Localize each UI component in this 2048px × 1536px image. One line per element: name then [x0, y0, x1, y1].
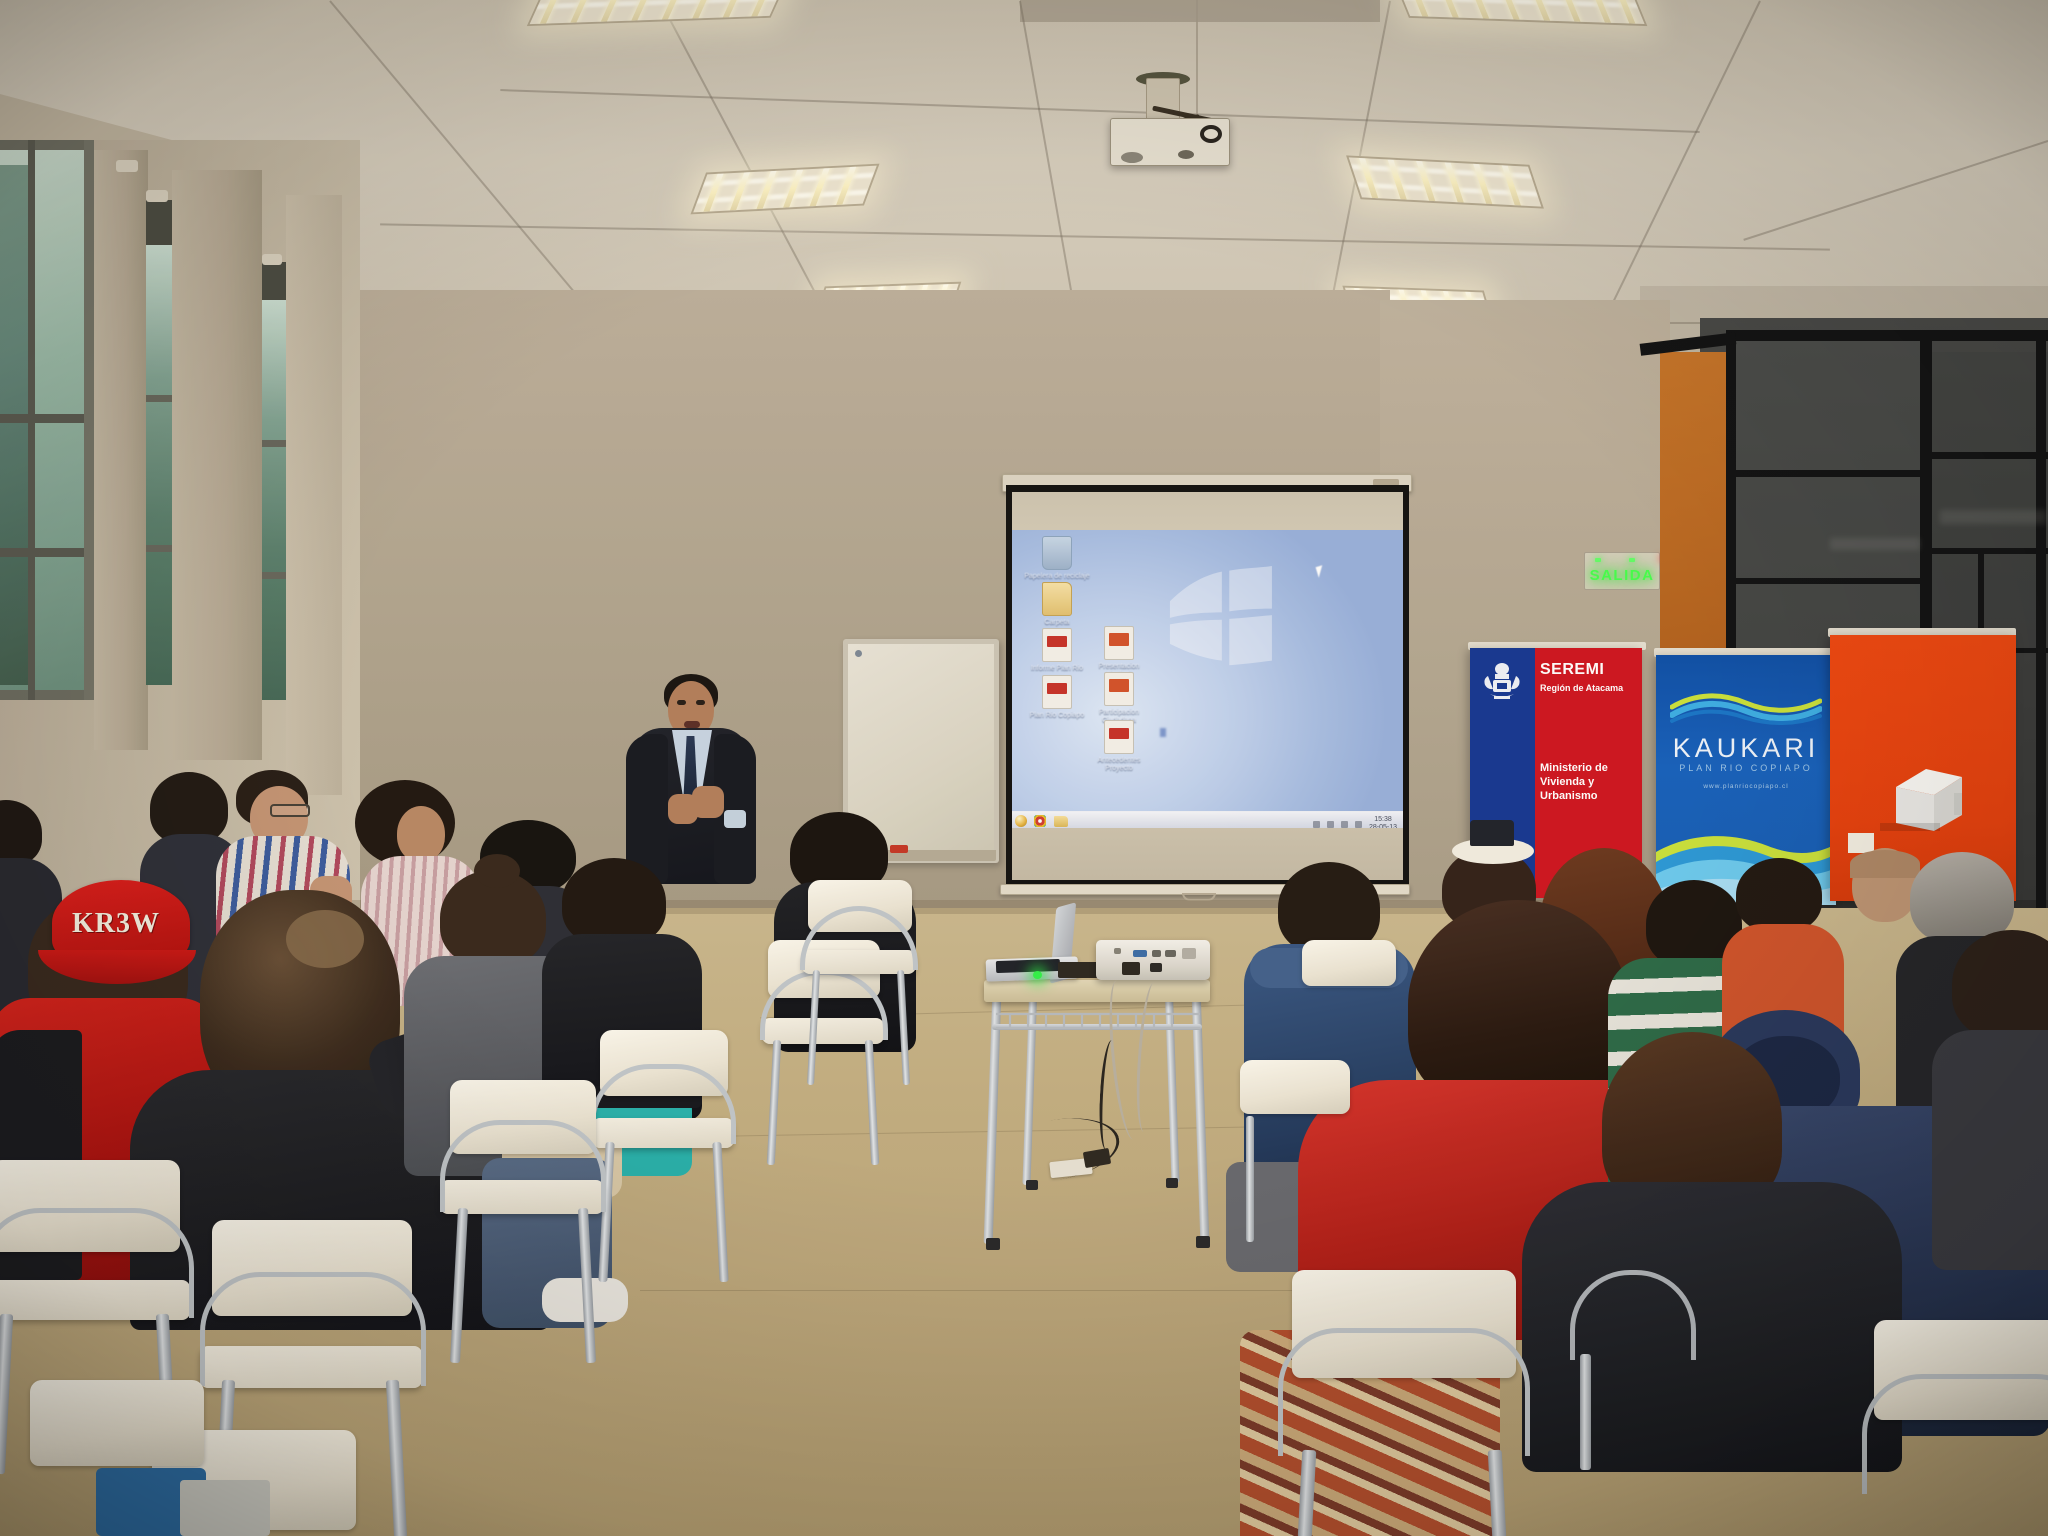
windows-desktop: Papelera de reciclaje Carpeta Informe Pl…	[1012, 530, 1403, 828]
kaukari-wordmark: KAUKARI	[1656, 733, 1836, 764]
paper-sheet	[180, 1480, 270, 1536]
projector-cable-coil	[1200, 125, 1222, 143]
taskbar-clock-date[interactable]: 28-05-13	[1369, 824, 1397, 828]
mini-hat	[1470, 820, 1514, 846]
audience-head	[397, 806, 445, 862]
desktop-icon-label: Papelera de reciclaje	[1024, 573, 1090, 581]
chair-frame-bar	[1278, 1328, 1530, 1456]
mouse-pointer-arrow	[1316, 565, 1326, 578]
desktop-icon-label: Plan Rio Copiapo	[1024, 712, 1090, 720]
glass-mullion	[1726, 330, 2048, 341]
windows-start-orb-icon[interactable]	[1015, 815, 1027, 827]
cart-foot	[1166, 1178, 1178, 1188]
wall-pillar	[172, 170, 262, 760]
glass-mullion	[1930, 452, 2048, 459]
desktop-icon-pdf-1[interactable]: Informe Plan Rio	[1024, 628, 1090, 673]
laptop-power-led	[1033, 971, 1042, 979]
network-icon[interactable]	[1313, 821, 1320, 828]
pdf-file-icon	[1042, 675, 1072, 709]
bald-spot	[286, 910, 364, 968]
emergency-exit-sign: SALIDA	[1584, 552, 1660, 590]
projection-screen-surface: Papelera de reciclaje Carpeta Informe Pl…	[1012, 492, 1403, 880]
powerpoint-file-icon	[1104, 672, 1134, 706]
window-frame-edge	[84, 140, 94, 700]
pdf-file-icon	[1042, 628, 1072, 662]
classroom-presentation-scene: Papelera de reciclaje Carpeta Informe Pl…	[0, 0, 2048, 1536]
chair-leg	[1488, 1450, 1507, 1536]
desktop-icon-doc[interactable]: Antecedentes Proyecto	[1086, 720, 1152, 773]
window-head	[146, 200, 172, 248]
projector-port	[1114, 948, 1121, 954]
presenter-shirt-cuff	[724, 810, 746, 828]
glass-mullion	[1736, 470, 1926, 477]
windows-taskbar[interactable]: 15:38 28-05-13	[1012, 811, 1403, 828]
window-slit	[262, 300, 286, 700]
window-mullion	[0, 548, 94, 557]
system-tray[interactable]: 15:38 28-05-13	[1313, 816, 1397, 828]
chair-leg	[897, 970, 910, 1085]
presenter-eye	[696, 700, 705, 705]
kaukari-tagline: PLAN RIO COPIAPO	[1656, 763, 1836, 773]
folder-explorer-icon[interactable]	[1054, 816, 1068, 827]
desktop-icon-label: Carpeta	[1024, 619, 1090, 627]
glass-reflection	[1940, 510, 2046, 524]
desktop-icon-ppt-2[interactable]: Participacion Ciudadana	[1086, 672, 1152, 725]
glass-mullion	[2036, 340, 2046, 914]
glass-reflection	[1830, 538, 1920, 550]
projector-port	[1165, 950, 1176, 957]
chair-leg	[1246, 1116, 1254, 1242]
chair-frame-bar	[200, 1272, 426, 1386]
table-projector	[1096, 940, 1210, 980]
glass-mullion	[1736, 578, 1926, 584]
chair[interactable]	[440, 1080, 610, 1360]
windows-logo-icon	[1164, 566, 1276, 668]
ceiling-recess	[1020, 0, 1380, 22]
desktop-artifact	[1160, 728, 1166, 737]
chair-leg	[0, 1314, 13, 1474]
window-mullion	[28, 140, 35, 700]
chair-leg	[578, 1208, 596, 1363]
projector-lens	[1121, 152, 1143, 163]
window-slit	[146, 245, 172, 685]
wall-pillar	[94, 150, 148, 750]
banner-heading-seremi: SEREMI	[1540, 661, 1604, 679]
audience-grey-hair	[1910, 852, 2014, 944]
chair[interactable]	[590, 1030, 740, 1280]
folder-icon	[1042, 582, 1072, 616]
chrome-icon[interactable]	[1034, 815, 1046, 827]
projector-port	[1152, 950, 1161, 957]
desktop-icon-recycle-bin[interactable]: Papelera de reciclaje	[1024, 536, 1090, 581]
kaukari-wave-logo-icon	[1670, 691, 1822, 727]
exit-sign-label: SALIDA	[1585, 562, 1659, 589]
hair-bun	[474, 854, 520, 888]
chair-backrest	[30, 1380, 204, 1466]
desktop-icon-pdf-2[interactable]: Plan Rio Copiapo	[1024, 675, 1090, 720]
taskbar-clock-time[interactable]: 15:38	[1369, 816, 1397, 824]
wire-shelf-grid	[996, 1010, 1200, 1032]
projector-power-inlet	[1150, 963, 1162, 972]
chair-leg	[450, 1208, 468, 1363]
window-bracket	[146, 190, 168, 202]
shield-icon[interactable]	[1341, 821, 1348, 828]
wall-pillar	[286, 195, 342, 795]
chair-leg	[386, 1380, 407, 1536]
presenter-eye	[677, 700, 686, 705]
banner-ministry-line-3: Urbanismo	[1540, 790, 1597, 803]
bald-head-top	[1850, 850, 1920, 878]
presenter-mouth	[684, 721, 700, 728]
projector-power-plug	[1122, 962, 1140, 975]
window-bracket	[262, 254, 282, 265]
chair[interactable]	[1278, 1270, 1538, 1536]
chair-leg	[767, 1040, 782, 1165]
eyeglasses-icon	[270, 804, 310, 817]
whiteboard-magnet	[855, 650, 862, 657]
kaukari-url: www.planriocopiapo.cl	[1656, 783, 1836, 790]
cube-shadow	[1880, 823, 1940, 831]
recycle-bin-icon	[1042, 536, 1072, 570]
projector-vent	[1182, 948, 1196, 959]
projector-lens	[1178, 150, 1194, 159]
screen-unlit-top	[1012, 492, 1403, 530]
desktop-icon-label: Informe Plan Rio	[1024, 665, 1090, 673]
cart-wire-shelf	[996, 1010, 1200, 1032]
document-file-icon	[1104, 720, 1134, 754]
banner-subheading-region: Región de Atacama	[1540, 683, 1623, 693]
banner-white-tag	[1848, 833, 1874, 853]
battery-icon[interactable]	[1355, 821, 1362, 828]
chair[interactable]	[800, 880, 920, 1090]
chair[interactable]	[1862, 1320, 2048, 1536]
chair-frame-bar	[1570, 1270, 1696, 1360]
cart-foot	[986, 1238, 1000, 1250]
chair[interactable]	[1296, 940, 1406, 1100]
chair[interactable]	[1570, 1270, 1700, 1470]
audience-torso	[1932, 1030, 2048, 1270]
cap-logo-text: KR3W	[72, 908, 160, 940]
glass-mullion	[1930, 548, 2048, 554]
chair-leg	[712, 1142, 728, 1282]
presenter	[620, 674, 760, 884]
chair-leg	[807, 970, 820, 1085]
chair-frame-bar	[0, 1208, 194, 1318]
chile-coat-of-arms-icon	[1478, 658, 1526, 706]
presenter-right-hand	[692, 786, 724, 818]
projector-vga-port	[1133, 950, 1147, 957]
banner-ministry-line-2: Vivienda y	[1540, 776, 1594, 789]
chair-leg	[1580, 1354, 1591, 1470]
chair-frame-bar	[440, 1120, 606, 1212]
cart-foot	[1196, 1236, 1210, 1248]
volume-icon[interactable]	[1327, 821, 1334, 828]
wall-fixture	[116, 160, 138, 172]
chair-leg	[1298, 1450, 1317, 1536]
chair-frame-bar	[1862, 1374, 2048, 1494]
powerpoint-file-icon	[1104, 626, 1134, 660]
window-head	[262, 262, 286, 304]
desktop-icon-label: Antecedentes Proyecto	[1086, 757, 1152, 773]
banner-ministry-line-1: Ministerio de	[1540, 762, 1608, 775]
chair-backrest	[1302, 940, 1396, 986]
whiteboard-marker	[890, 845, 908, 853]
audience-hair	[562, 858, 666, 946]
audience-hair	[1736, 858, 1822, 932]
laptop-keyboard	[996, 959, 1060, 973]
desktop-icon-folder[interactable]: Carpeta	[1024, 582, 1090, 627]
av-cart-tabletop	[984, 980, 1210, 1002]
window-mullion	[0, 414, 94, 423]
